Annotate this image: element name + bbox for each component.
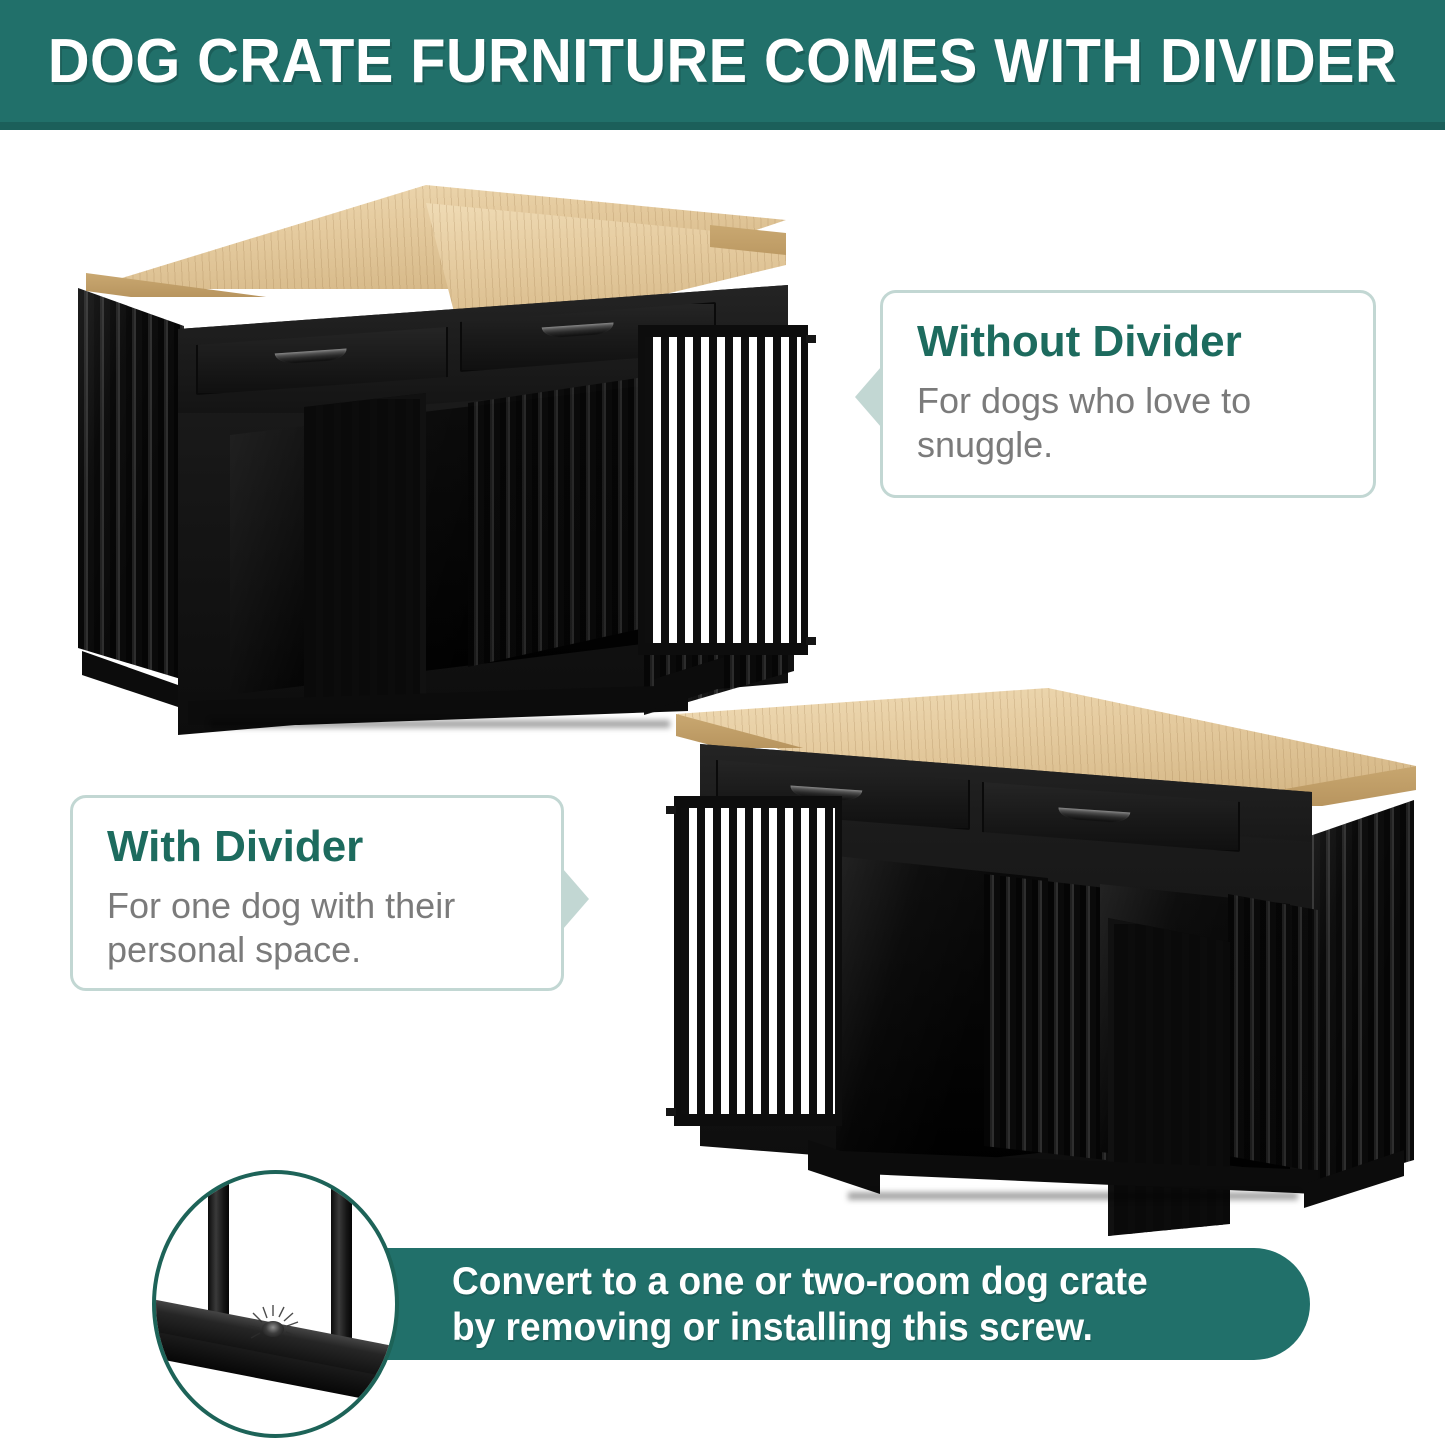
callout-without-divider: Without Divider For dogs who love to snu… xyxy=(880,290,1376,498)
divider-post-left-icon xyxy=(208,1170,229,1322)
header-banner-edge xyxy=(0,122,1445,130)
door2-left-frame-bottom xyxy=(674,1114,842,1126)
callout-with-divider: With Divider For one dog with their pers… xyxy=(70,795,564,991)
door2-left-latch[interactable] xyxy=(666,806,676,814)
crate2-door-left-open[interactable] xyxy=(674,796,842,1126)
door-right-latch[interactable] xyxy=(806,335,816,343)
divider-post-right-icon xyxy=(331,1170,352,1346)
door-right-latch-lower[interactable] xyxy=(806,637,816,645)
door-right-bars xyxy=(645,332,801,648)
callout-tail-with-divider xyxy=(563,869,589,929)
bottom-banner-line-2: by removing or installing this screw. xyxy=(452,1305,1269,1351)
door-left-bars xyxy=(302,399,420,717)
kennel-divider-panel xyxy=(984,874,1106,1184)
crate2-back-slats xyxy=(1228,894,1318,1194)
callout-without-heading: Without Divider xyxy=(917,319,1343,365)
product-image-crate-with-divider xyxy=(668,688,1445,1208)
door-right-frame-top xyxy=(638,325,808,337)
crate2-right-side-panel xyxy=(1304,792,1414,1192)
infographic-canvas: DOG CRATE FURNITURE COMES WITH DIVIDER xyxy=(0,0,1445,1438)
bottom-banner-line-1: Convert to a one or two-room dog crate xyxy=(452,1259,1269,1305)
callout-tail-without-divider xyxy=(855,367,881,427)
crate-ground-shadow xyxy=(210,720,670,728)
crate-left-side-panel xyxy=(78,280,184,680)
callout-with-heading: With Divider xyxy=(107,824,531,870)
product-image-crate-without-divider xyxy=(70,185,860,725)
page-title: DOG CRATE FURNITURE COMES WITH DIVIDER xyxy=(51,0,1395,122)
crate2-ground-shadow xyxy=(848,1192,1298,1200)
crate-door-right-open[interactable] xyxy=(638,325,808,655)
callout-with-body: For one dog with their personal space. xyxy=(107,884,531,972)
door-right-frame-bottom xyxy=(638,643,808,655)
door2-left-latch-lower[interactable] xyxy=(666,1108,676,1116)
divider-screw-icon xyxy=(262,1321,284,1337)
door2-left-frame-top xyxy=(674,796,842,808)
bottom-banner-text: Convert to a one or two-room dog crate b… xyxy=(452,1252,1269,1358)
screw-detail-inset xyxy=(152,1170,399,1438)
callout-without-body: For dogs who love to snuggle. xyxy=(917,379,1343,467)
kennel-back-slats xyxy=(468,375,658,675)
crate-door-left-open[interactable] xyxy=(296,393,426,723)
door2-left-bars xyxy=(681,803,835,1119)
